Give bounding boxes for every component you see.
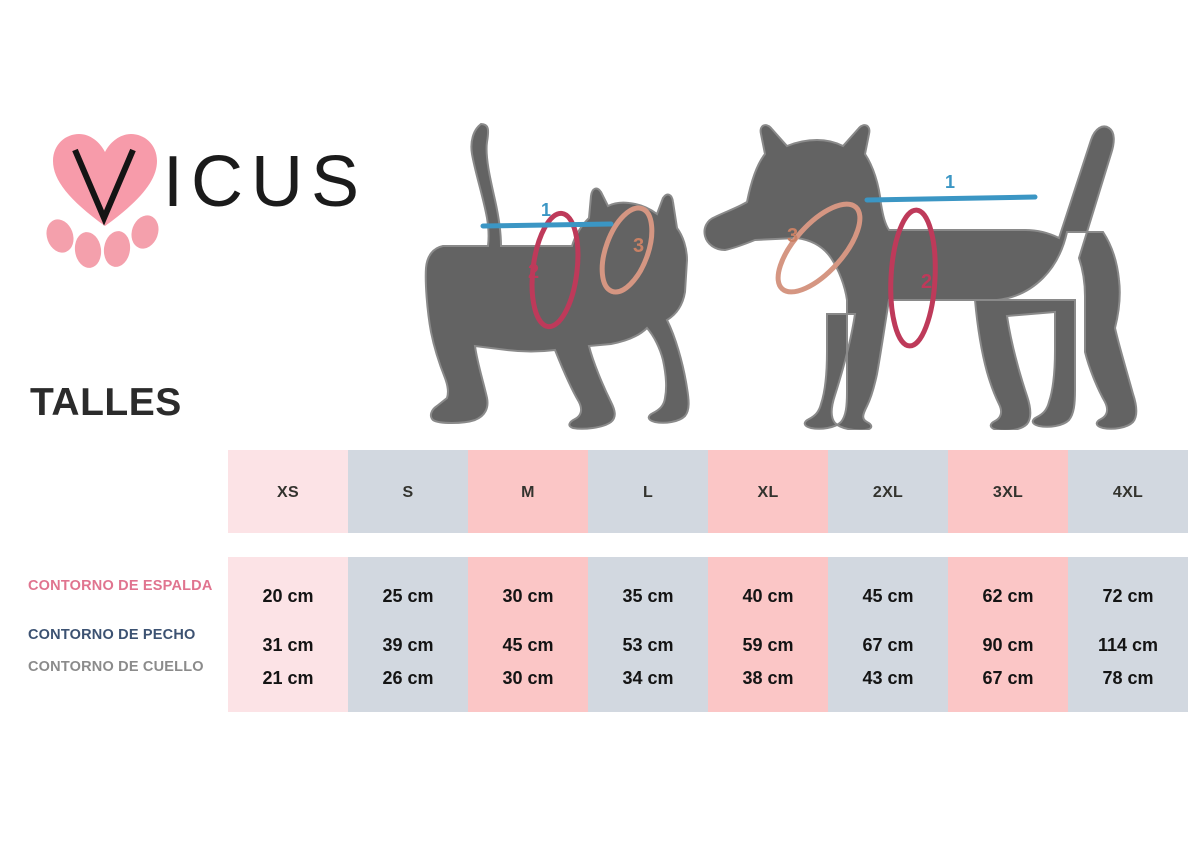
cell-pecho: 59 cm: [708, 635, 828, 656]
pet-measurement-illustration: 3 2 1 3 2 1: [415, 100, 1155, 430]
cell-cuello: 78 cm: [1068, 668, 1188, 689]
size-column-m[interactable]: M: [468, 450, 588, 533]
cell-espalda: 25 cm: [348, 586, 468, 607]
cat-neck-measure-label: 3: [633, 235, 644, 257]
cell-pecho: 31 cm: [228, 635, 348, 656]
cell-pecho: 114 cm: [1068, 635, 1188, 656]
cell-cuello: 26 cm: [348, 668, 468, 689]
size-values-column-m: 30 cm 45 cm 30 cm: [468, 557, 588, 712]
size-values-column-xl: 40 cm 59 cm 38 cm: [708, 557, 828, 712]
cell-espalda: 30 cm: [468, 586, 588, 607]
size-values-column-3xl: 62 cm 90 cm 67 cm: [948, 557, 1068, 712]
dog-back-measure-line: 1: [867, 172, 1035, 200]
size-column-3xl[interactable]: 3XL: [948, 450, 1068, 533]
size-column-2xl[interactable]: 2XL: [828, 450, 948, 533]
cell-espalda: 45 cm: [828, 586, 948, 607]
size-values-column-4xl: 72 cm 114 cm 78 cm: [1068, 557, 1188, 712]
cell-cuello: 38 cm: [708, 668, 828, 689]
cell-cuello: 67 cm: [948, 668, 1068, 689]
cell-pecho: 53 cm: [588, 635, 708, 656]
cell-cuello: 21 cm: [228, 668, 348, 689]
cell-espalda: 62 cm: [948, 586, 1068, 607]
size-values-column-2xl: 45 cm 67 cm 43 cm: [828, 557, 948, 712]
size-header-row: XS S M L XL 2XL 3XL 4XL: [228, 450, 1188, 533]
size-header-label: 2XL: [828, 484, 948, 502]
size-column-xl[interactable]: XL: [708, 450, 828, 533]
cell-cuello: 43 cm: [828, 668, 948, 689]
cell-cuello: 30 cm: [468, 668, 588, 689]
size-header-label: 3XL: [948, 484, 1068, 502]
dog-chest-measure-label: 2: [921, 271, 932, 293]
cell-pecho: 90 cm: [948, 635, 1068, 656]
cell-espalda: 40 cm: [708, 586, 828, 607]
cat-back-measure-label: 1: [541, 200, 551, 220]
brand-wordmark: ICUS: [163, 146, 367, 218]
size-values-rows: 20 cm 31 cm 21 cm 25 cm 39 cm 26 cm 30 c…: [228, 557, 1188, 712]
size-header-label: XL: [708, 484, 828, 502]
cell-cuello: 34 cm: [588, 668, 708, 689]
heart-paw-logo-icon: [45, 128, 165, 268]
cell-pecho: 39 cm: [348, 635, 468, 656]
size-header-label: XS: [228, 484, 348, 502]
cat-chest-measure-label: 2: [528, 261, 539, 283]
size-header-label: 4XL: [1068, 484, 1188, 502]
cell-pecho: 45 cm: [468, 635, 588, 656]
brand-logo: ICUS: [45, 128, 355, 268]
cell-espalda: 72 cm: [1068, 586, 1188, 607]
size-column-xs[interactable]: XS: [228, 450, 348, 533]
page-title: TALLES: [30, 382, 182, 425]
cat-silhouette: [426, 124, 689, 429]
cell-pecho: 67 cm: [828, 635, 948, 656]
cell-espalda: 35 cm: [588, 586, 708, 607]
size-chart-table: XS S M L XL 2XL 3XL 4XL 20 cm 31 cm 21 c…: [0, 445, 1200, 720]
size-column-s[interactable]: S: [348, 450, 468, 533]
dog-back-measure-label: 1: [945, 172, 955, 192]
size-column-4xl[interactable]: 4XL: [1068, 450, 1188, 533]
dog-neck-measure-label: 3: [787, 225, 798, 247]
cell-espalda: 20 cm: [228, 586, 348, 607]
size-header-label: M: [468, 484, 588, 502]
size-values-column-s: 25 cm 39 cm 26 cm: [348, 557, 468, 712]
size-column-l[interactable]: L: [588, 450, 708, 533]
size-header-label: L: [588, 484, 708, 502]
size-values-column-xs: 20 cm 31 cm 21 cm: [228, 557, 348, 712]
size-header-label: S: [348, 484, 468, 502]
size-values-column-l: 35 cm 53 cm 34 cm: [588, 557, 708, 712]
